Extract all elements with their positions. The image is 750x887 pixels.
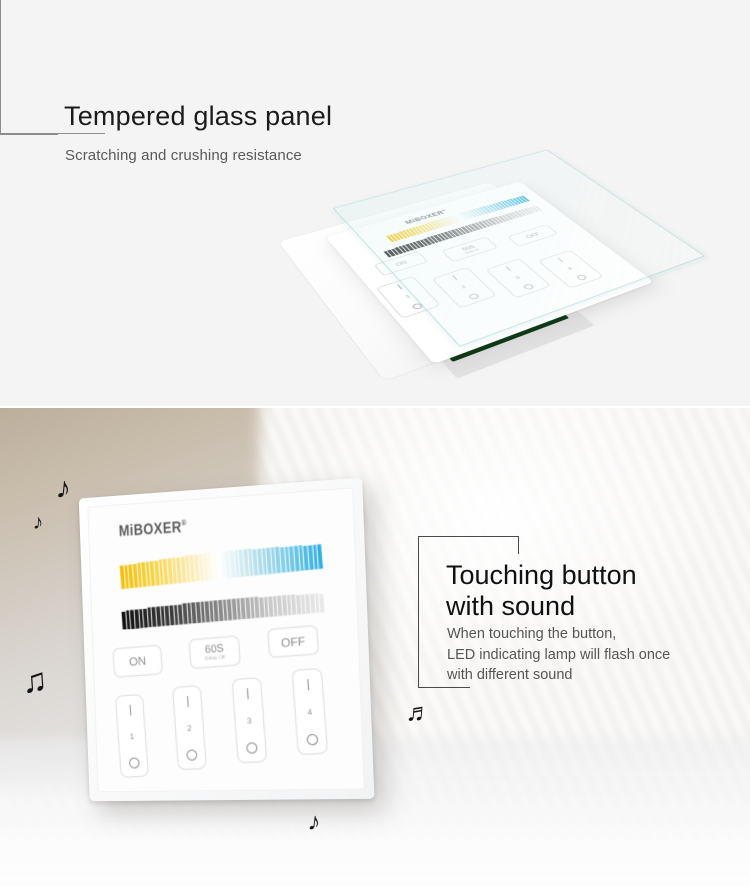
zone-number: 2 [187,724,192,732]
zone-number: 1 [405,294,412,299]
sound-frame-bottom-edge [418,687,470,688]
section-tempered-glass: Tempered glass panel Scratching and crus… [0,0,750,408]
sound-frame-top-drop [518,536,519,554]
zone-number: 1 [130,733,135,741]
music-note-beamed-pair: ♫ [21,663,49,699]
zone-button-2[interactable]: 2 [172,685,207,770]
delay-off-caption: Delay Off [205,654,226,662]
zone-on-bar-icon [397,285,402,290]
device-photo-bottom: MiBOXER® ON 60S Delay Off OFF 1 2 [76,488,386,818]
off-button[interactable]: OFF [267,625,319,658]
zone-on-bar-icon [307,679,309,690]
zone-on-bar-icon [129,705,131,716]
off-button[interactable]: OFF [507,224,558,246]
zone-button-4[interactable]: 4 [292,668,329,755]
music-note-eighth-1: ♪ [54,473,72,504]
colour-temperature-slider[interactable] [119,541,323,589]
zone-on-bar-icon [246,688,248,699]
device-brand-text: MiBOXER [118,519,181,540]
zone-number: 3 [247,717,252,725]
device-perspective-scene: MiBOXER® ON 60S Delay Off OFF 1 [240,149,739,390]
zone-button-3[interactable]: 3 [232,677,268,763]
sound-body-line-3: with different sound [447,665,670,686]
sound-section-body: When touching the button, LED indicating… [447,624,670,686]
sound-title-line-2: with sound [446,591,637,622]
brightness-slider[interactable] [121,591,324,630]
glass-frame-bottom-edge [0,134,58,135]
sound-frame-left-edge [418,536,419,688]
zone-off-circle-icon [246,742,258,754]
wall-panel-face: MiBOXER® ON 60S Delay Off OFF 1 2 [87,487,364,792]
zone-off-circle-icon [306,734,318,746]
music-note-sixteenth: ♬ [405,698,433,726]
wall-panel-device: MiBOXER® ON 60S Delay Off OFF 1 2 [79,477,375,801]
delay-off-button[interactable]: 60S Delay Off [188,635,240,669]
sound-section-title: Touching button with sound [446,560,637,623]
sound-body-line-1: When touching the button, [447,624,670,645]
sound-title-line-1: Touching button [446,560,637,591]
music-note-eighth-2: ♪ [32,512,44,534]
section-touching-button-with-sound: MiBOXER® ON 60S Delay Off OFF 1 2 [0,408,750,887]
zone-off-circle-icon [186,749,197,761]
zone-button-1[interactable]: 1 [115,694,149,778]
zone-number: 4 [307,708,312,716]
glass-frame-left-edge [0,0,1,133]
zone-off-circle-icon [128,757,139,768]
registered-mark-icon: ® [181,518,187,527]
sound-frame-top-edge [418,536,518,537]
device-photo-top: MiBOXER® ON 60S Delay Off OFF 1 [255,110,725,380]
sound-body-line-2: LED indicating lamp will flash once [447,645,670,666]
on-button[interactable]: ON [112,645,163,678]
device-brand-logo: MiBOXER® [118,518,187,541]
zone-on-bar-icon [187,696,189,707]
